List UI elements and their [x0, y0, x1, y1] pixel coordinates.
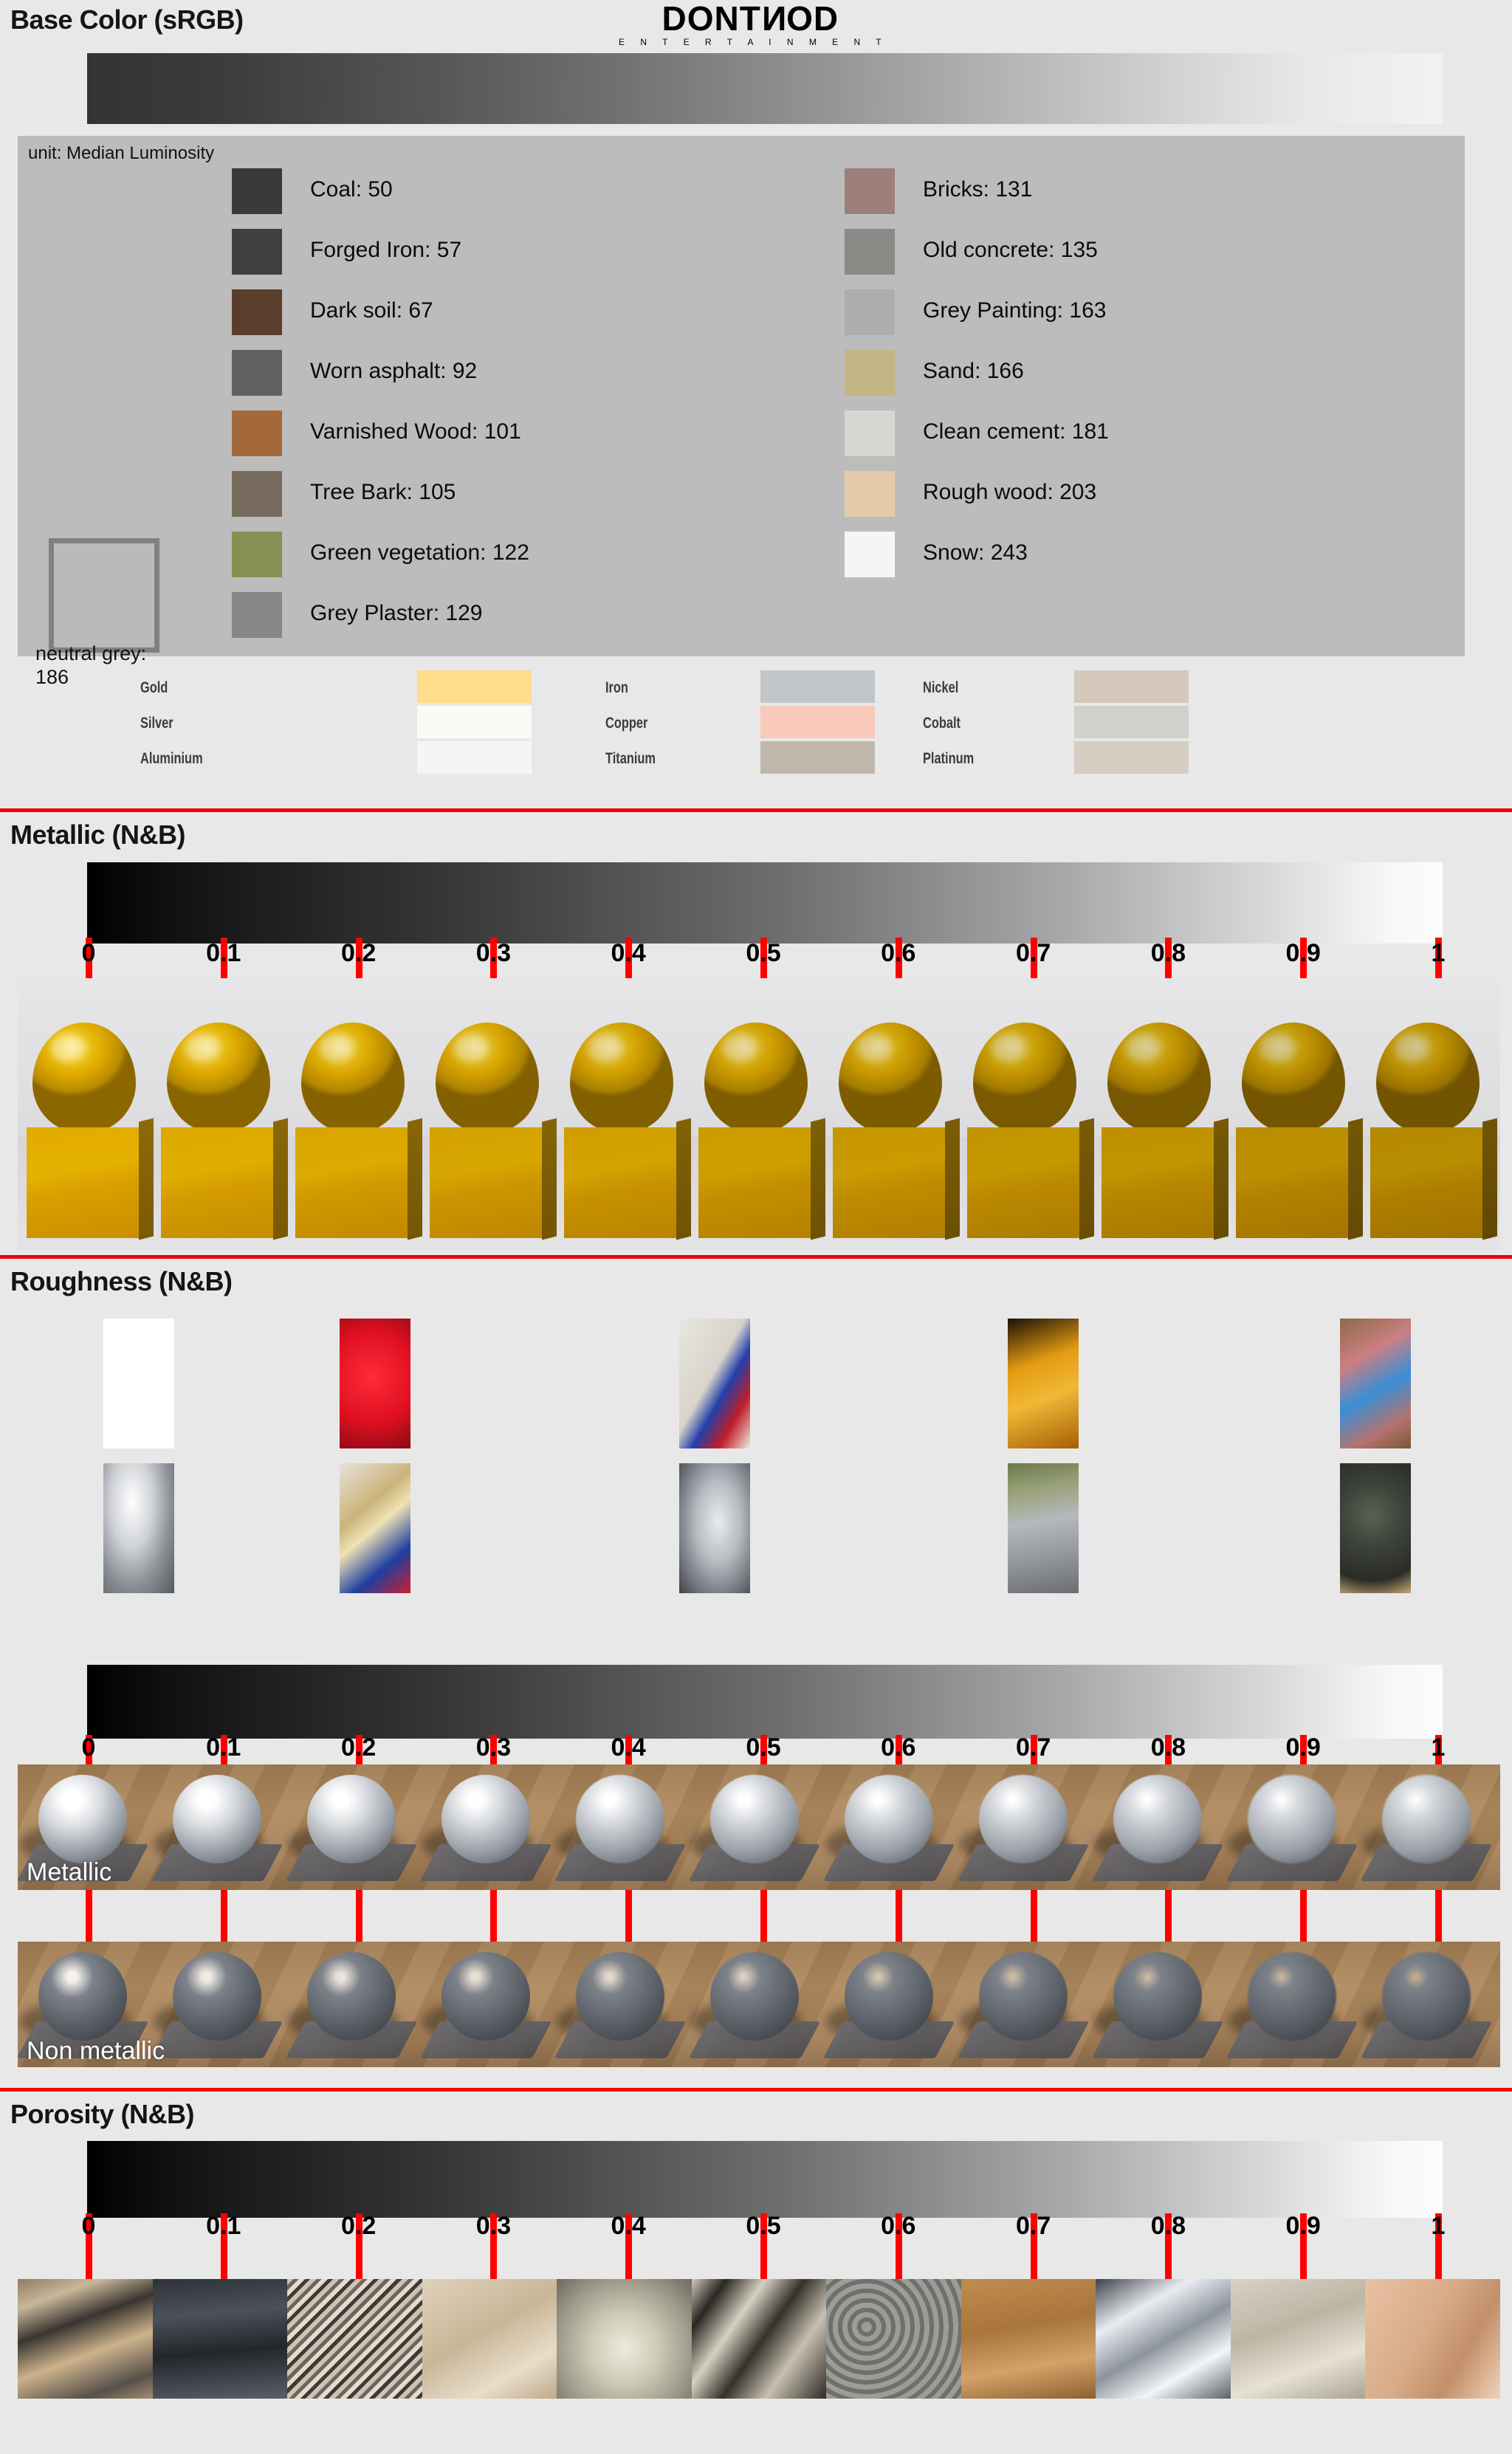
color-swatch	[845, 289, 895, 335]
metallic-cube	[161, 1127, 273, 1238]
metallic-sample	[560, 1127, 688, 1238]
metals-table: GoldSilverAluminiumIronCopperTitaniumNic…	[0, 664, 1512, 783]
metallic-sample	[291, 1127, 419, 1238]
reference-photo-glossy	[340, 1319, 410, 1448]
color-swatch	[232, 592, 282, 638]
base-color-panel: unit: Median Luminosity neutral grey:186…	[18, 136, 1465, 656]
sample-sphere	[441, 1775, 530, 1863]
color-label: Worn asphalt: 92	[310, 359, 477, 384]
scale-tick-label: 0.9	[1286, 2212, 1321, 2241]
metallic-cube	[27, 1127, 139, 1238]
porosity-sample	[826, 2279, 961, 2399]
metallic-sample	[22, 1127, 151, 1238]
sample-sphere	[441, 1952, 530, 2041]
scale-tick-label: 0	[82, 2212, 96, 2241]
logo-word-mirrored-n: N	[761, 1, 786, 35]
color-label: Rough wood: 203	[923, 480, 1096, 505]
scale-tick	[1031, 1890, 1037, 1943]
scale-tick	[221, 1890, 227, 1943]
color-label: Coal: 50	[310, 177, 393, 202]
sample-sphere	[38, 1775, 127, 1863]
porosity-scale: 00.10.20.30.40.50.60.70.80.91	[0, 0, 1512, 1]
scale-tick-label: 0.2	[341, 1733, 376, 1762]
porosity-sample	[1096, 2279, 1231, 2399]
scale-tick-label: 0.5	[746, 2212, 780, 2241]
color-label: Old concrete: 135	[923, 238, 1098, 263]
metal-label: Copper	[605, 715, 647, 732]
unit-label: unit: Median Luminosity	[28, 143, 214, 164]
scale-tick-label: 0.6	[881, 939, 915, 968]
scale-tick	[490, 1890, 497, 1943]
sample-sphere	[38, 1952, 127, 2041]
scale-tick-label: 0.4	[611, 939, 646, 968]
metal-swatch	[760, 741, 875, 774]
scale-tick-label: 0.4	[611, 1733, 646, 1762]
metal-swatch	[417, 741, 532, 774]
sample-sphere	[710, 1952, 799, 2041]
porosity-sample	[557, 2279, 692, 2399]
logo-wordmark: DONTNOD	[662, 1, 839, 35]
section-divider-porosity: Porosity (N&B)	[0, 2088, 1512, 2134]
color-swatch	[845, 350, 895, 396]
scale-tick-label: 0	[82, 1733, 96, 1762]
section-title-roughness: Roughness (N&B)	[0, 1259, 1512, 1302]
scale-tick-label: 0.2	[341, 2212, 376, 2241]
sample-sphere	[845, 1775, 933, 1863]
color-swatch	[845, 471, 895, 517]
scale-tick	[1435, 1890, 1442, 1943]
color-swatch	[232, 289, 282, 335]
metal-swatch	[1074, 741, 1189, 774]
metallic-sample	[1097, 1127, 1226, 1238]
metal-swatch	[417, 670, 532, 703]
color-label: Tree Bark: 105	[310, 480, 456, 505]
scale-tick-label: 0.4	[611, 2212, 646, 2241]
metal-label: Titanium	[605, 750, 656, 768]
metal-label: Platinum	[923, 750, 974, 768]
color-swatch	[232, 471, 282, 517]
sample-sphere	[1248, 1775, 1336, 1863]
metallic-sample	[1231, 1127, 1360, 1238]
metallic-render-strip	[18, 978, 1500, 1251]
scale-tick-label: 0.7	[1016, 939, 1051, 968]
roughness-gradient-bar	[87, 1665, 1443, 1739]
color-label: Sand: 166	[923, 359, 1024, 384]
dontnod-logo: DONTNOD E N T E R T A I N M E N T	[613, 1, 888, 47]
metallic-cube	[295, 1127, 408, 1238]
scale-tick-label: 0.3	[476, 939, 511, 968]
sample-sphere	[307, 1775, 396, 1863]
sample-sphere	[576, 1952, 664, 2041]
metal-swatch	[417, 706, 532, 738]
color-swatch	[232, 229, 282, 275]
metal-label: Silver	[140, 715, 173, 732]
scale-tick	[86, 1890, 92, 1943]
scale-tick-label: 0	[82, 939, 96, 968]
color-label: Snow: 243	[923, 540, 1028, 566]
color-label: Dark soil: 67	[310, 298, 433, 323]
color-label: Green vegetation: 122	[310, 540, 529, 566]
reference-photo-metal	[1340, 1463, 1411, 1593]
metal-swatch	[1074, 670, 1189, 703]
scale-tick-label: 0.6	[881, 2212, 915, 2241]
scale-tick	[1300, 1890, 1307, 1943]
sample-sphere	[1382, 1952, 1471, 2041]
scale-tick-label: 0.5	[746, 939, 780, 968]
reference-photo-metal	[1008, 1463, 1079, 1593]
strip-label-non-metallic: Non metallic	[27, 2037, 165, 2066]
metallic-cube	[833, 1127, 945, 1238]
scale-tick-label: 0.7	[1016, 1733, 1051, 1762]
sample-sphere	[1113, 1775, 1202, 1863]
metal-label: Aluminium	[140, 750, 203, 768]
scale-tick-label: 0.3	[476, 2212, 511, 2241]
metal-swatch	[1074, 706, 1189, 738]
section-title-base-color: Base Color (sRGB)	[0, 0, 244, 40]
sample-sphere	[173, 1952, 261, 2041]
logo-word-right: OD	[786, 0, 839, 38]
section-divider-metallic: Metallic (N&B)	[0, 808, 1512, 855]
reference-photo-metal	[340, 1463, 410, 1593]
scale-tick-label: 0.5	[746, 1733, 780, 1762]
metallic-sample	[963, 1127, 1091, 1238]
sample-sphere	[1113, 1952, 1202, 2041]
reference-photo-glossy	[103, 1319, 174, 1448]
section-title-porosity: Porosity (N&B)	[0, 2092, 1512, 2134]
metallic-cube	[1102, 1127, 1214, 1238]
metallic-gradient-bar	[87, 862, 1443, 944]
metallic-sample	[1366, 1127, 1494, 1238]
color-swatch	[845, 229, 895, 275]
scale-tick-label: 0.6	[881, 1733, 915, 1762]
porosity-sample	[18, 2279, 153, 2399]
scale-tick-label: 0.8	[1151, 2212, 1186, 2241]
scale-tick-label: 1	[1432, 939, 1446, 968]
metal-label: Gold	[140, 679, 168, 697]
porosity-sample	[1231, 2279, 1366, 2399]
reference-photo-glossy	[1340, 1319, 1411, 1448]
metallic-sample	[828, 1127, 957, 1238]
color-label: Clean cement: 181	[923, 419, 1109, 444]
section-title-metallic: Metallic (N&B)	[0, 812, 1512, 855]
reference-photo-glossy	[679, 1319, 750, 1448]
metal-label: Nickel	[923, 679, 958, 697]
porosity-sample	[287, 2279, 422, 2399]
logo-subtitle: E N T E R T A I N M E N T	[613, 38, 888, 47]
color-swatch	[232, 532, 282, 577]
reference-photo-glossy	[1008, 1319, 1079, 1448]
color-label: Grey Painting: 163	[923, 298, 1106, 323]
color-label: Bricks: 131	[923, 177, 1032, 202]
porosity-sample	[422, 2279, 557, 2399]
sample-sphere	[1382, 1775, 1471, 1863]
color-swatch	[845, 532, 895, 577]
scale-tick-label: 0.8	[1151, 1733, 1186, 1762]
metallic-cube	[1236, 1127, 1348, 1238]
scale-tick-label: 0.3	[476, 1733, 511, 1762]
neutral-grey-swatch	[49, 538, 159, 653]
color-label: Grey Plaster: 129	[310, 601, 482, 626]
metal-swatch	[760, 706, 875, 738]
porosity-sample-strip	[18, 2279, 1500, 2399]
logo-word-left: DONT	[662, 0, 761, 38]
roughness-non-metallic-strip: Non metallic	[18, 1942, 1500, 2067]
porosity-sample	[153, 2279, 288, 2399]
scale-tick	[625, 1890, 632, 1943]
metallic-sample	[694, 1127, 822, 1238]
metallic-cube	[1370, 1127, 1482, 1238]
sample-sphere	[710, 1775, 799, 1863]
metallic-cube	[564, 1127, 676, 1238]
scale-tick	[896, 1890, 902, 1943]
sample-sphere	[979, 1952, 1068, 2041]
scale-tick	[356, 1890, 362, 1943]
color-swatch	[232, 168, 282, 214]
base-color-gradient-bar	[87, 53, 1443, 124]
scale-tick-label: 0.7	[1016, 2212, 1051, 2241]
scale-tick-label: 0.9	[1286, 1733, 1321, 1762]
metallic-cube	[967, 1127, 1079, 1238]
strip-label-metallic: Metallic	[27, 1858, 111, 1887]
sample-sphere	[576, 1775, 664, 1863]
scale-tick-label: 0.1	[206, 939, 241, 968]
scale-tick-label: 0.1	[206, 2212, 241, 2241]
sample-sphere	[173, 1775, 261, 1863]
color-label: Forged Iron: 57	[310, 238, 461, 263]
color-swatch	[232, 410, 282, 456]
scale-tick-label: 0.2	[341, 939, 376, 968]
section-divider-roughness: Roughness (N&B)	[0, 1255, 1512, 1302]
scale-tick-label: 1	[1432, 2212, 1446, 2241]
porosity-gradient-bar	[87, 2141, 1443, 2218]
porosity-sample	[1365, 2279, 1500, 2399]
color-swatch	[845, 410, 895, 456]
scale-tick-label: 0.8	[1151, 939, 1186, 968]
metal-label: Cobalt	[923, 715, 961, 732]
scale-tick	[760, 1890, 767, 1943]
color-swatch	[232, 350, 282, 396]
sample-sphere	[307, 1952, 396, 2041]
scale-tick-label: 0.9	[1286, 939, 1321, 968]
sample-sphere	[1248, 1952, 1336, 2041]
metallic-sample	[157, 1127, 285, 1238]
porosity-sample	[961, 2279, 1096, 2399]
sample-sphere	[979, 1775, 1068, 1863]
metallic-sample	[425, 1127, 554, 1238]
porosity-sample	[692, 2279, 827, 2399]
roughness-metallic-strip: Metallic	[18, 1764, 1500, 1890]
metal-label: Iron	[605, 679, 628, 697]
sample-sphere	[845, 1952, 933, 2041]
reference-photo-metal	[679, 1463, 750, 1593]
scale-tick-label: 1	[1432, 1733, 1446, 1762]
metallic-cube	[698, 1127, 811, 1238]
scale-tick	[1165, 1890, 1172, 1943]
metal-swatch	[760, 670, 875, 703]
color-swatch	[845, 168, 895, 214]
scale-tick-label: 0.1	[206, 1733, 241, 1762]
color-label: Varnished Wood: 101	[310, 419, 521, 444]
reference-photo-metal	[103, 1463, 174, 1593]
metallic-cube	[430, 1127, 542, 1238]
